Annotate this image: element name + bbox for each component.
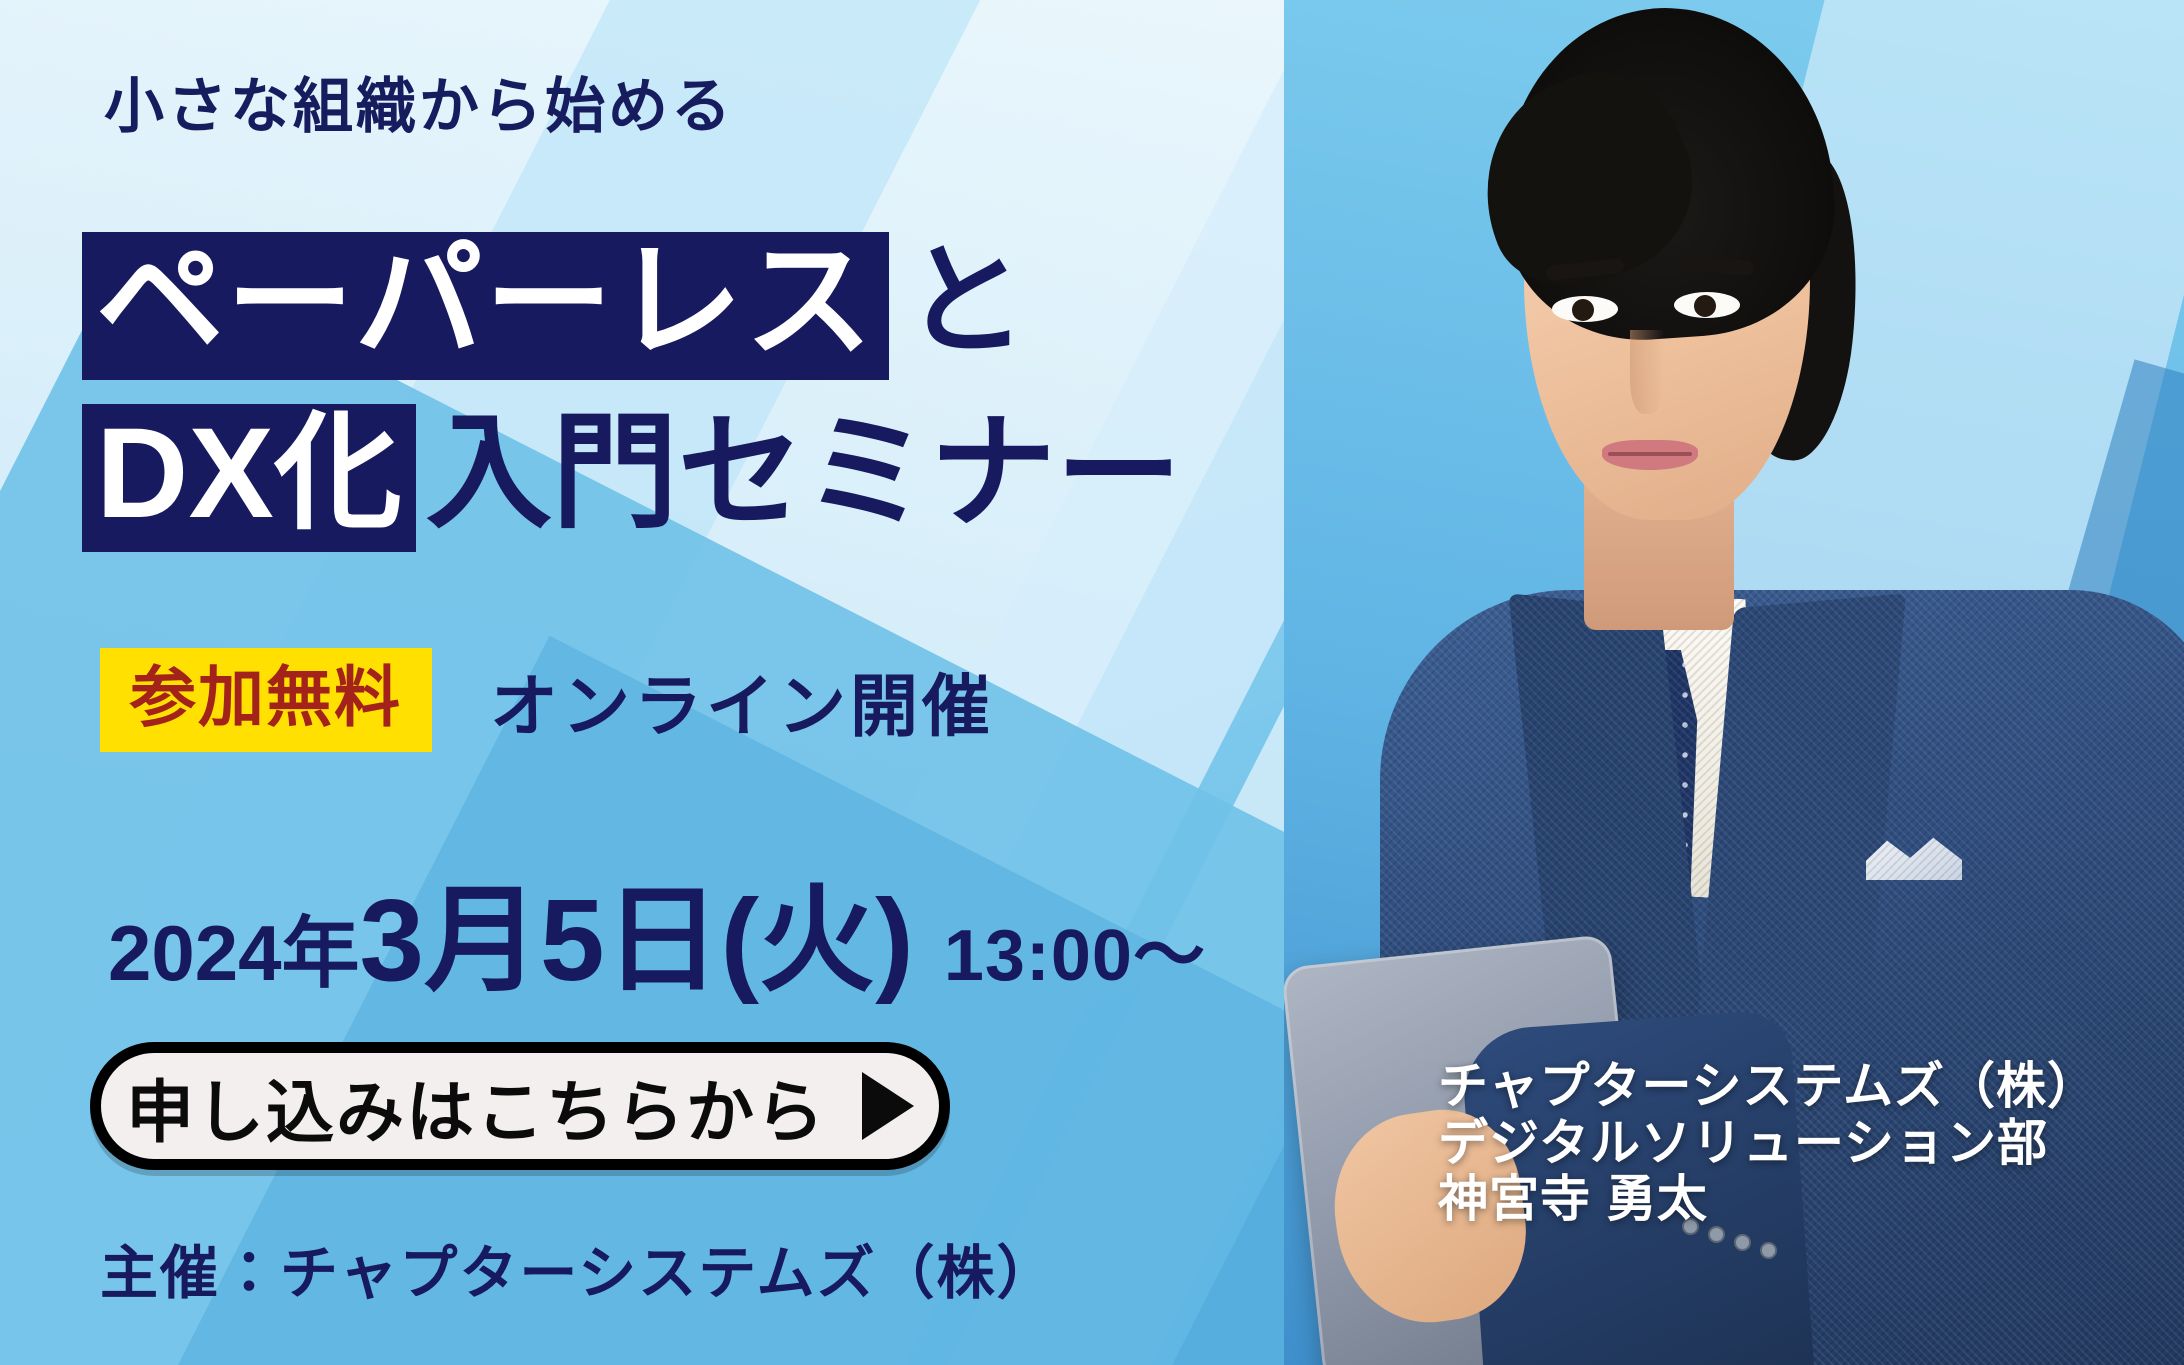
online-format-label: オンライン開催 [490,651,994,750]
date-year: 2024年 [108,891,360,1003]
eye-right [1674,292,1740,318]
cuff-button [1734,1234,1751,1251]
mouth [1602,440,1698,470]
banner-content: 小さな組織から始める ペーパーレス と DX化 入門セミナー 参加無料 オンライ… [0,0,1460,1365]
title-highlight-dx: DX化 [82,404,416,552]
cuff-button [1760,1242,1777,1259]
start-time: 13:00〜 [944,896,1206,1001]
seminar-banner: 小さな組織から始める ペーパーレス と DX化 入門セミナー 参加無料 オンライ… [0,0,2184,1365]
title-seminar-text: 入門セミナー [426,410,1182,546]
cuff-button [1708,1226,1725,1243]
speaker-department: デジタルソリューション部 [1438,1115,2158,1172]
date-time-row: 2024年 3月5日(火) 13:00〜 [108,846,1206,1014]
title-conjunction: と [905,240,1027,372]
host-organizer-label: 主催：チャプターシステムズ（株） [100,1226,1057,1310]
play-triangle-icon [862,1072,914,1140]
speaker-name: 神宮寺 勇太 [1438,1171,2158,1228]
format-row: 参加無料 オンライン開催 [100,648,994,752]
title-line-2: DX化 入門セミナー [82,404,1182,552]
eye-left [1552,296,1618,322]
title-line-1: ペーパーレス と [82,232,1027,380]
speaker-credit: チャプターシステムズ（株） デジタルソリューション部 神宮寺 勇太 [1438,1058,2158,1228]
free-admission-badge: 参加無料 [100,648,432,752]
date-month-day: 3月5日(火) [360,846,914,1014]
title-highlight-paperless: ペーパーレス [82,232,889,380]
speaker-company: チャプターシステムズ（株） [1438,1058,2158,1115]
apply-button-label: 申し込みはこちらから [126,1057,826,1156]
kicker-text: 小さな組織から始める [104,58,734,145]
nose [1630,330,1664,414]
apply-button[interactable]: 申し込みはこちらから [90,1042,950,1170]
